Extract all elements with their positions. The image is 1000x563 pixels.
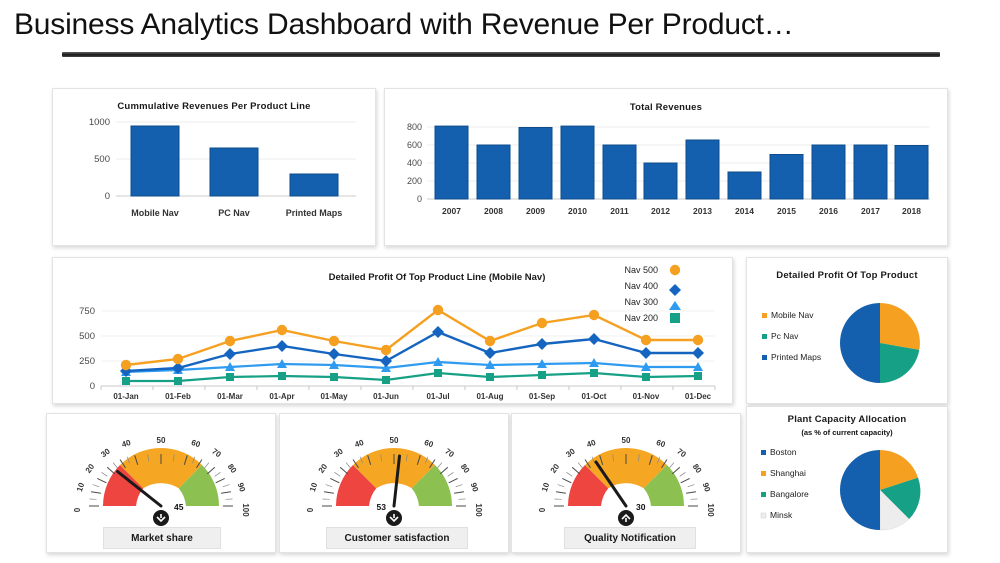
card-title-detailed-line: Detailed Profit Of Top Product Line (Mob…: [329, 272, 546, 283]
svg-text:Printed Maps: Printed Maps: [771, 352, 821, 362]
svg-text:10: 10: [308, 481, 319, 493]
svg-text:0: 0: [73, 507, 82, 512]
gauge-label-customer-satisfaction: Customer satisfaction: [326, 527, 468, 549]
svg-text:2010: 2010: [568, 206, 587, 216]
svg-text:0: 0: [538, 507, 547, 512]
svg-text:80: 80: [226, 462, 239, 475]
svg-text:01-Sep: 01-Sep: [529, 392, 555, 401]
svg-text:0: 0: [306, 507, 315, 512]
svg-text:01-Jan: 01-Jan: [113, 392, 138, 401]
svg-text:20: 20: [549, 462, 562, 475]
svg-text:2007: 2007: [442, 206, 461, 216]
svg-text:01-Jun: 01-Jun: [373, 392, 399, 401]
svg-text:01-Jul: 01-Jul: [426, 392, 449, 401]
svg-text:2014: 2014: [735, 206, 754, 216]
svg-text:90: 90: [469, 482, 480, 494]
card-detailed-profit-line: Detailed Profit Of Top Product Line (Mob…: [52, 257, 733, 404]
svg-text:500: 500: [79, 331, 95, 342]
svg-text:50: 50: [390, 436, 399, 445]
svg-text:Nav 300: Nav 300: [624, 297, 658, 307]
gauge-value-quality-notification: 30: [636, 502, 646, 512]
card-detailed-profit-pie: Detailed Profit Of Top Product Mobile Na…: [746, 257, 948, 404]
svg-text:Pc Nav: Pc Nav: [771, 331, 799, 341]
svg-text:20: 20: [317, 462, 330, 475]
card-plant-capacity: Plant Capacity Allocation (as % of curre…: [746, 406, 948, 553]
svg-text:70: 70: [210, 447, 223, 460]
svg-text:Mobile Nav: Mobile Nav: [771, 310, 814, 320]
svg-text:30: 30: [99, 446, 112, 459]
svg-text:30: 30: [332, 446, 345, 459]
svg-text:0: 0: [417, 194, 422, 204]
svg-text:01-May: 01-May: [320, 392, 348, 401]
chart-cumulative-revenues: 1000 500 0 Mobile Nav PC Nav Printed Map…: [53, 89, 375, 245]
svg-text:PC Nav: PC Nav: [218, 208, 250, 218]
svg-text:2012: 2012: [651, 206, 670, 216]
legend-detailed-pie: Mobile Nav Pc Nav Printed Maps: [762, 310, 821, 362]
dashboard-page: Business Analytics Dashboard with Revenu…: [0, 0, 1000, 563]
svg-text:Printed Maps: Printed Maps: [286, 208, 343, 218]
card-total-revenues: Total Revenues 800: [384, 88, 948, 246]
svg-text:2013: 2013: [693, 206, 712, 216]
svg-text:Boston: Boston: [770, 447, 797, 457]
svg-text:80: 80: [691, 462, 704, 475]
svg-text:200: 200: [407, 176, 422, 186]
svg-text:60: 60: [423, 438, 435, 449]
svg-text:40: 40: [586, 438, 598, 449]
chart-detailed-profit-pie: Mobile Nav Pc Nav Printed Maps: [747, 258, 947, 403]
svg-text:2017: 2017: [861, 206, 880, 216]
svg-text:2015: 2015: [777, 206, 796, 216]
svg-text:01-Dec: 01-Dec: [685, 392, 712, 401]
svg-text:30: 30: [564, 446, 577, 459]
svg-text:100: 100: [706, 503, 715, 517]
card-cumulative-revenues: Cummulative Revenues Per Product Line 10…: [52, 88, 376, 246]
svg-text:2011: 2011: [610, 206, 629, 216]
page-title: Business Analytics Dashboard with Revenu…: [14, 8, 794, 42]
svg-text:01-Oct: 01-Oct: [582, 392, 607, 401]
svg-text:70: 70: [675, 447, 688, 460]
svg-text:0: 0: [90, 381, 95, 392]
gauge-label-quality-notification: Quality Notification: [564, 527, 696, 549]
svg-text:90: 90: [236, 482, 247, 494]
gauge-label-market-share: Market share: [103, 527, 221, 549]
svg-text:20: 20: [84, 462, 97, 475]
svg-text:80: 80: [459, 462, 472, 475]
svg-text:250: 250: [79, 356, 95, 367]
svg-text:50: 50: [622, 436, 631, 445]
svg-text:2018: 2018: [902, 206, 921, 216]
title-divider: [62, 52, 940, 57]
card-gauge-customer-satisfaction: 0 10 20 30 40 50 60 70 80 90 100 53 Cust…: [279, 413, 509, 553]
svg-text:Shanghai: Shanghai: [770, 468, 806, 478]
svg-text:Mobile Nav: Mobile Nav: [131, 208, 179, 218]
svg-text:01-Aug: 01-Aug: [476, 392, 503, 401]
chart-total-revenues: 800 600 400 200 0 2007 2008 2009 2010 20…: [385, 89, 947, 245]
svg-text:01-Apr: 01-Apr: [269, 392, 294, 401]
svg-text:600: 600: [407, 140, 422, 150]
svg-text:400: 400: [407, 158, 422, 168]
svg-text:2016: 2016: [819, 206, 838, 216]
svg-text:01-Mar: 01-Mar: [217, 392, 243, 401]
svg-text:40: 40: [354, 438, 366, 449]
chart-plant-capacity-pie: Boston Shanghai Bangalore Minsk: [747, 407, 947, 552]
gauge-value-customer-satisfaction: 53: [377, 502, 387, 512]
svg-text:0: 0: [105, 191, 110, 202]
svg-text:Nav 200: Nav 200: [624, 313, 658, 323]
svg-text:100: 100: [241, 503, 250, 517]
svg-text:40: 40: [121, 438, 133, 449]
svg-text:100: 100: [474, 503, 483, 517]
svg-text:90: 90: [701, 482, 712, 494]
card-gauge-quality-notification: 0 10 20 30 40 50 60 70 80 90 100 30 Qual…: [511, 413, 741, 553]
svg-text:10: 10: [540, 481, 551, 493]
svg-text:1000: 1000: [89, 117, 110, 128]
svg-text:Bangalore: Bangalore: [770, 489, 809, 499]
svg-text:2009: 2009: [526, 206, 545, 216]
svg-text:60: 60: [655, 438, 667, 449]
svg-text:800: 800: [407, 122, 422, 132]
svg-text:10: 10: [75, 481, 86, 493]
card-gauge-market-share: 0 10 20 30 40 50 60 70 80 90 100 45 Mark…: [46, 413, 276, 553]
svg-text:50: 50: [157, 436, 166, 445]
gauge-value-market-share: 45: [174, 502, 184, 512]
svg-text:Nav 400: Nav 400: [624, 281, 658, 291]
svg-text:2008: 2008: [484, 206, 503, 216]
svg-text:60: 60: [190, 438, 202, 449]
chart-detailed-profit-line: Detailed Profit Of Top Product Line (Mob…: [53, 258, 732, 403]
legend-detailed-line: Nav 500 Nav 400 Nav 300 Nav 200: [624, 265, 681, 323]
svg-text:01-Nov: 01-Nov: [633, 392, 660, 401]
svg-text:Minsk: Minsk: [770, 510, 793, 520]
svg-text:70: 70: [443, 447, 456, 460]
svg-text:500: 500: [94, 154, 110, 165]
svg-text:01-Feb: 01-Feb: [165, 392, 191, 401]
svg-text:750: 750: [79, 306, 95, 317]
legend-plant-capacity: Boston Shanghai Bangalore Minsk: [761, 447, 809, 520]
svg-text:Nav 500: Nav 500: [624, 265, 658, 275]
